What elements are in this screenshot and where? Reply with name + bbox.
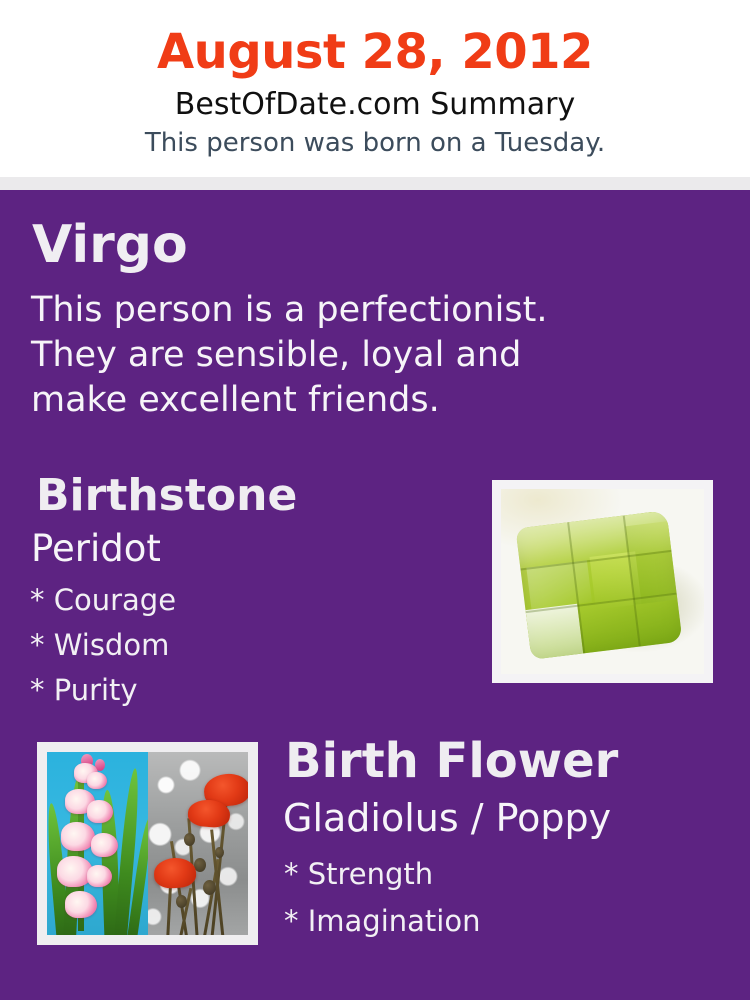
birth-flower-trait-list: * Strength * Imagination — [284, 851, 480, 945]
gladiolus-bloom — [87, 772, 107, 789]
birth-flower-trait-item: * Strength — [284, 851, 480, 898]
birth-flower-trait-item: * Imagination — [284, 898, 480, 945]
header-divider — [0, 177, 750, 190]
poppy-seed-pod — [203, 880, 216, 895]
birth-flower-image-frame — [37, 742, 258, 945]
zodiac-sign-name: Virgo — [32, 215, 188, 275]
gladiolus-and-poppy-image — [47, 752, 248, 935]
poppy-seed-pod — [215, 847, 224, 858]
zodiac-description-line: make excellent friends. — [31, 378, 691, 423]
birthstone-trait-item: * Purity — [30, 668, 176, 713]
born-day-text: This person was born on a Tuesday. — [0, 127, 750, 159]
header: August 28, 2012 BestOfDate.com Summary T… — [0, 0, 750, 177]
poppy-seed-pod — [176, 895, 187, 908]
peridot-gemstone-image — [501, 489, 704, 674]
details-panel: Virgo This person is a perfectionist. Th… — [0, 190, 750, 1000]
page-title: August 28, 2012 — [0, 23, 750, 81]
poppy-seed-pod — [184, 833, 195, 846]
gladiolus-bloom — [91, 833, 118, 857]
poppy-bloom — [153, 857, 197, 889]
birth-flower-name: Gladiolus / Poppy — [283, 795, 611, 841]
birthstone-trait-list: * Courage * Wisdom * Purity — [30, 578, 176, 713]
birthstone-name: Peridot — [31, 527, 161, 571]
zodiac-description-line: They are sensible, loyal and — [31, 333, 691, 378]
gladiolus-bloom — [61, 822, 95, 851]
gladiolus-bloom — [65, 891, 97, 918]
zodiac-description-line: This person is a perfectionist. — [31, 288, 691, 333]
birthstone-trait-item: * Wisdom — [30, 623, 176, 668]
birthstone-trait-item: * Courage — [30, 578, 176, 623]
birthstone-heading: Birthstone — [36, 470, 297, 522]
birth-flower-heading: Birth Flower — [285, 733, 618, 789]
birthstone-image-frame — [492, 480, 713, 683]
poppy-photo-pane — [148, 752, 249, 935]
gladiolus-bloom — [87, 800, 113, 823]
gem-crystal-shape — [516, 510, 683, 660]
site-summary-label: BestOfDate.com Summary — [0, 87, 750, 123]
summary-card: August 28, 2012 BestOfDate.com Summary T… — [0, 0, 750, 1000]
gladiolus-photo-pane — [47, 752, 148, 935]
zodiac-description: This person is a perfectionist. They are… — [31, 288, 691, 423]
